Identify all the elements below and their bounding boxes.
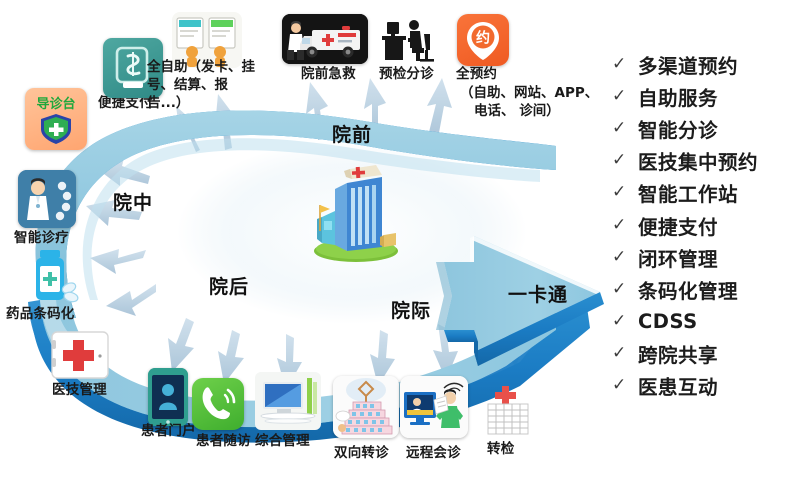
green-phone-icon[interactable] [192,378,244,430]
smartphone-patient-icon[interactable] [148,368,188,426]
hospital-building-icon [300,155,410,265]
label-two-way-referral: 双向转诊 [334,445,389,462]
hospital-referral-icon[interactable] [333,376,399,438]
checklist-item[interactable]: ✓ 医技集中预约 [612,145,802,177]
checklist-item-label: 医技集中预约 [638,146,758,175]
label-remote-consultation: 远程会诊 [406,445,461,462]
checklist-item-label: 多渠道预约 [638,50,738,79]
desktop-monitor-icon[interactable] [255,372,321,430]
checklist-item-label: CDSS [638,310,698,333]
remote-consult-icon[interactable] [400,376,468,438]
label-pre-hospital-emergency: 院前急救 [301,66,356,83]
checklist-item-label: 自助服务 [638,82,718,111]
building-cross-icon[interactable] [480,384,536,436]
checklist-item[interactable]: ✓ 跨院共享 [612,338,802,370]
checklist-item-label: 智能工作站 [638,178,738,207]
check-icon: ✓ [612,377,638,394]
label-appointment-sub-line2: 电话、 诊间） [460,102,600,120]
checklist-item[interactable]: ✓ CDSS [612,306,802,338]
ambulance-doctor-icon[interactable] [282,14,368,64]
stage-label-pre-hospital: 院前 [332,120,372,147]
checklist-item-label: 条码化管理 [638,275,738,304]
checklist-item[interactable]: ✓ 医患互动 [612,370,802,402]
checklist-item-label: 便捷支付 [638,211,718,240]
checklist-item[interactable]: ✓ 智能工作站 [612,177,802,209]
checklist-item[interactable]: ✓ 闭环管理 [612,241,802,273]
checklist-item[interactable]: ✓ 多渠道预约 [612,48,802,80]
svg-text:导诊台: 导诊台 [36,96,75,112]
label-self-service-line2: 号、结算、报 [147,76,271,94]
check-icon: ✓ [612,120,638,137]
check-icon: ✓ [612,184,638,201]
triage-desk-person-icon[interactable] [380,14,438,64]
checklist-item[interactable]: ✓ 便捷支付 [612,209,802,241]
check-icon: ✓ [612,313,638,330]
label-smart-diagnosis: 智能诊疗 [14,230,69,247]
checklist-item[interactable]: ✓ 自助服务 [612,80,802,112]
label-patient-portal: 患者门户 [141,423,196,440]
medicine-bottle-icon[interactable] [28,248,82,304]
label-transfer-exam: 转检 [487,441,514,458]
label-full-appointment: 全预约 [456,66,497,83]
label-self-service-line1: 全自助（发卡、挂 [147,58,271,76]
svg-text:约: 约 [476,30,490,47]
checklist-item-label: 智能分诊 [638,114,718,143]
stage-label-one-card: 一卡通 [508,280,568,307]
checklist-item-label: 医患互动 [638,371,718,400]
checklist-item[interactable]: ✓ 智能分诊 [612,112,802,144]
label-triage: 预检分诊 [379,66,434,83]
feature-checklist: ✓ 多渠道预约 ✓ 自助服务 ✓ 智能分诊 ✓ 医技集中预约 ✓ 智能工作站 ✓… [612,48,802,402]
check-icon: ✓ [612,281,638,298]
label-patient-followup: 患者随访 [196,433,251,450]
check-icon: ✓ [612,88,638,105]
stage-label-in-hospital: 院中 [113,188,153,215]
stage-label-inter-hospital: 院际 [391,296,431,323]
check-icon: ✓ [612,217,638,234]
checklist-item[interactable]: ✓ 条码化管理 [612,273,802,305]
label-drug-barcode: 药品条码化 [6,306,75,323]
diagram-canvas: 院前 院中 院后 院际 一卡通 导诊台 [0,0,804,489]
label-appointment-sub-line1: （自助、网站、APP、 [460,84,600,102]
guide-desk-shield-icon[interactable]: 导诊台 [25,88,87,150]
appointment-pin-icon[interactable]: 约 [457,14,509,66]
label-integrated-management: 综合管理 [255,433,310,450]
label-full-appointment-sub: （自助、网站、APP、 电话、 诊间） [460,84,600,120]
checklist-item-label: 闭环管理 [638,243,718,272]
checklist-item-label: 跨院共享 [638,339,718,368]
check-icon: ✓ [612,56,638,73]
stage-label-post-hospital: 院后 [209,272,249,299]
check-icon: ✓ [612,249,638,266]
label-self-service-line3: 告...） [147,94,271,112]
label-self-service: 全自助（发卡、挂 号、结算、报 告...） [147,58,271,112]
check-icon: ✓ [612,152,638,169]
doctor-smart-diagnosis-icon[interactable] [18,170,76,228]
label-medtech-management: 医技管理 [52,382,107,399]
check-icon: ✓ [612,345,638,362]
first-aid-kit-icon[interactable] [50,330,110,380]
